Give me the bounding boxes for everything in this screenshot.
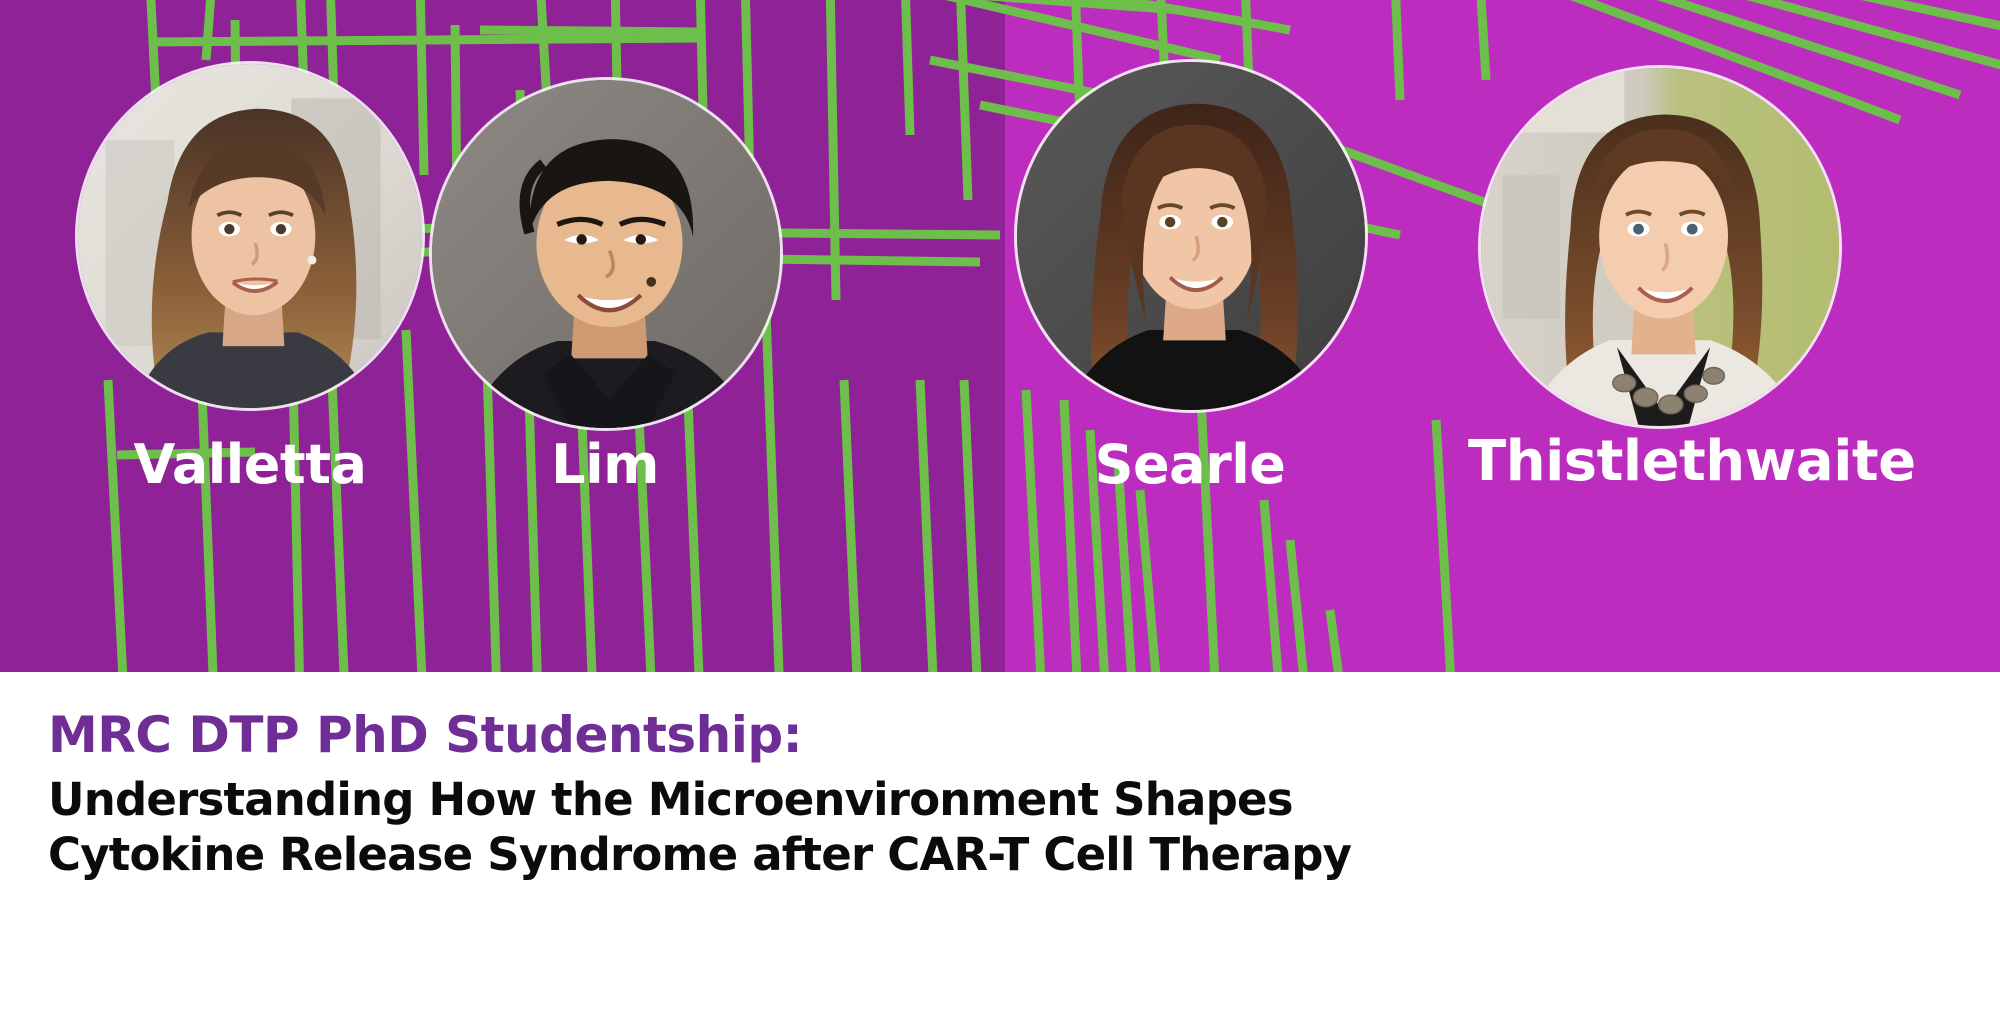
headshot-thistlethwaite bbox=[1481, 68, 1839, 426]
headshot-valletta bbox=[78, 64, 422, 408]
name-label-searle: Searle bbox=[1020, 438, 1360, 492]
project-title-line-2: Cytokine Release Syndrome after CAR-T Ce… bbox=[48, 828, 1608, 883]
name-label-lim: Lim bbox=[435, 438, 775, 492]
headshot-searle bbox=[1017, 62, 1365, 410]
project-title-line-1: Understanding How the Microenvironment S… bbox=[48, 773, 1608, 828]
name-label-thistlethwaite: Thistlethwaite bbox=[1468, 434, 1848, 490]
headshot-lim bbox=[432, 80, 780, 428]
banner: Valletta Lim Searle Thistlethwaite bbox=[0, 0, 2000, 672]
poster-root: Valletta Lim Searle Thistlethwaite MRC D… bbox=[0, 0, 2000, 1016]
lower-panel: MRC DTP PhD Studentship: Understanding H… bbox=[0, 672, 2000, 1016]
text-block: MRC DTP PhD Studentship: Understanding H… bbox=[48, 708, 1608, 883]
name-label-valletta: Valletta bbox=[80, 438, 420, 492]
project-title: Understanding How the Microenvironment S… bbox=[48, 773, 1608, 883]
studentship-heading: MRC DTP PhD Studentship: bbox=[48, 708, 1608, 763]
